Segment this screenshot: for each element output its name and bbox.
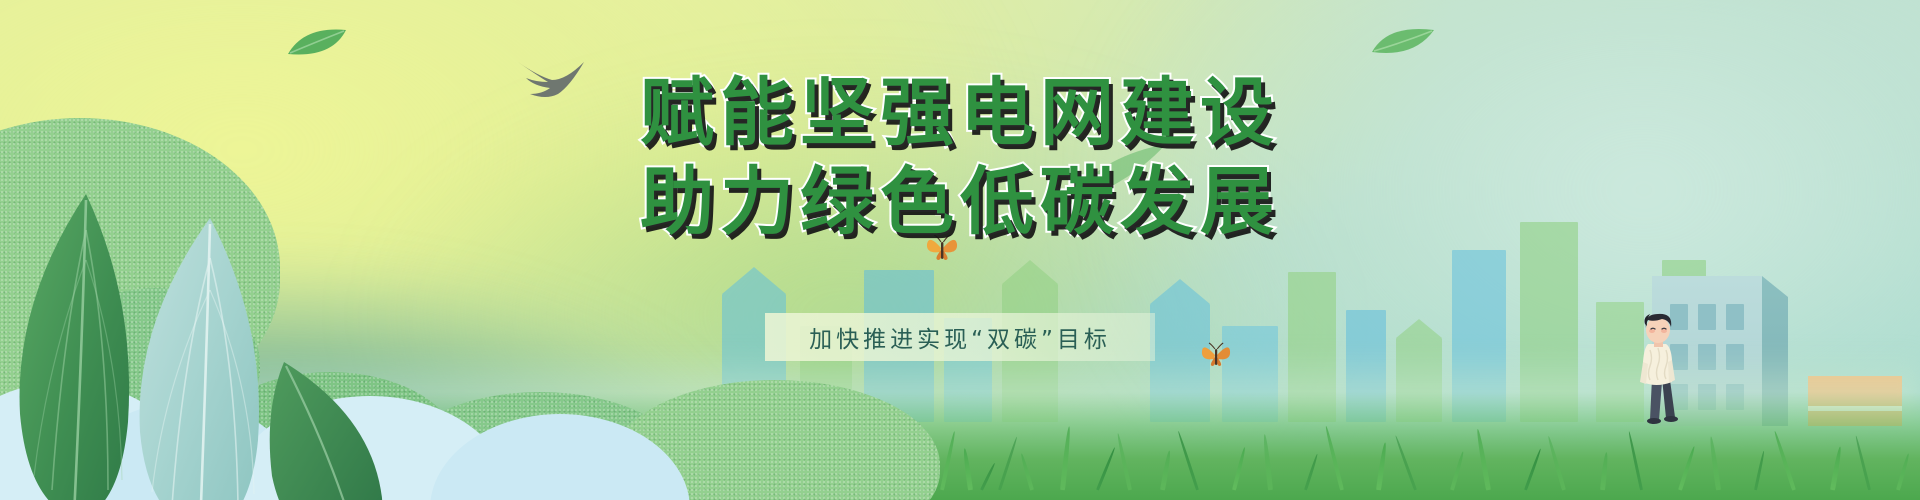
banner-root: 赋能坚强电网建设 助力绿色低碳发展 加快推进实现“双碳”目标 — [0, 0, 1920, 500]
title-line-2: 助力绿色低碳发展 — [640, 161, 1280, 244]
title-line-1: 赋能坚强电网建设 — [640, 72, 1280, 155]
subtitle-band: 加快推进实现“双碳”目标 — [765, 313, 1155, 361]
subtitle-text: 加快推进实现“双碳”目标 — [809, 320, 1111, 354]
title-block: 赋能坚强电网建设 助力绿色低碳发展 — [0, 0, 1920, 500]
